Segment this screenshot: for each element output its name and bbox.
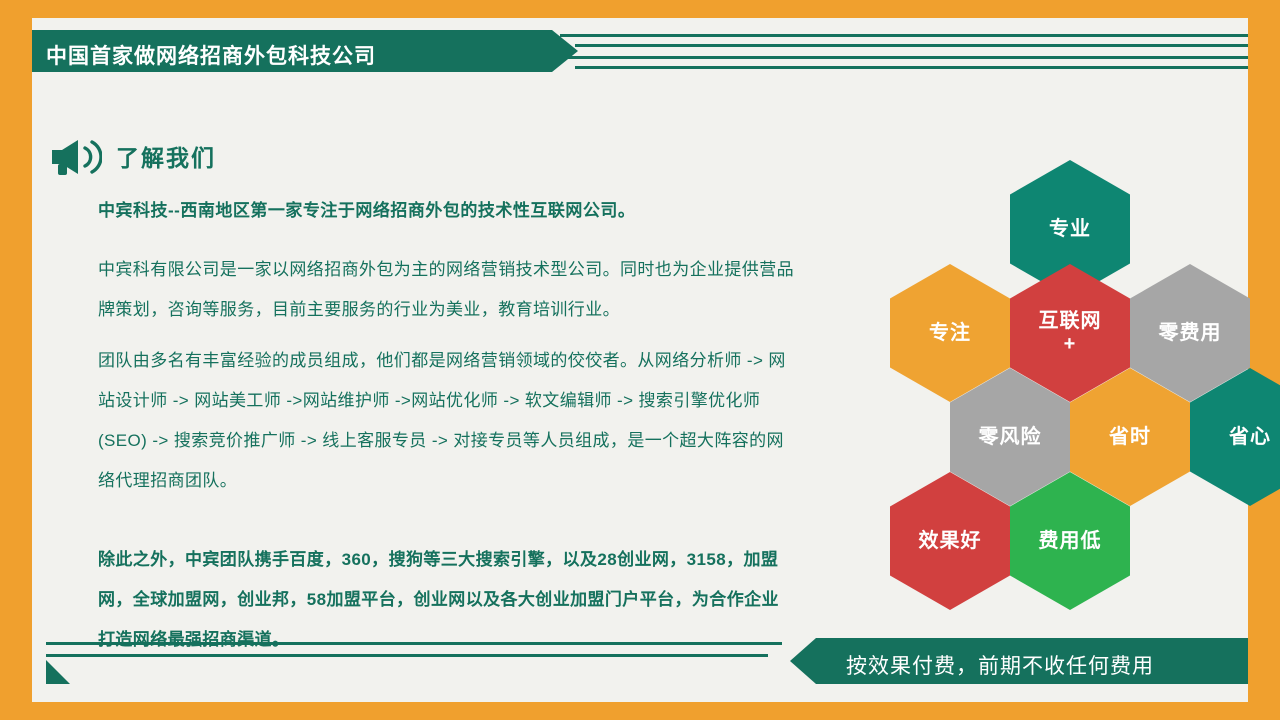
header-title: 中国首家做网络招商外包科技公司	[46, 40, 376, 70]
header-decor-line-2	[575, 44, 1248, 47]
hexagon-label: 费用低	[1039, 530, 1102, 553]
hexagon-label: 专业	[1049, 218, 1091, 241]
footer-bar-arrow	[790, 638, 816, 684]
header-decor-line-3	[560, 56, 1248, 59]
megaphone-icon	[48, 138, 102, 176]
hexagon-label: 省时	[1109, 426, 1151, 449]
slide-root: 中国首家做网络招商外包科技公司 了解我们 中宾科技--西南地区第一家专注于网络招…	[0, 0, 1280, 720]
hexagon-label: 零风险	[979, 426, 1042, 449]
header-decor-line-4	[575, 66, 1248, 69]
body-paragraph-2: 团队由多名有丰富经验的成员组成，他们都是网络营销领域的佼佼者。从网络分析师 ->…	[98, 341, 798, 501]
header-decor-line-1	[560, 34, 1248, 37]
footer-text: 按效果付费，前期不收任何费用	[846, 650, 1154, 680]
footer-corner-triangle	[46, 660, 70, 684]
hexagon-label: 专注	[929, 322, 971, 345]
hexagon-label: 互联网 +	[1039, 310, 1102, 356]
body-paragraph-1: 中宾科有限公司是一家以网络招商外包为主的网络营销技术型公司。同时也为企业提供营品…	[98, 250, 798, 330]
hexagon-label: 省心	[1229, 426, 1271, 449]
footer-decor-line-1	[46, 642, 782, 645]
section-title: 了解我们	[116, 139, 216, 173]
lead-paragraph: 中宾科技--西南地区第一家专注于网络招商外包的技术性互联网公司。	[98, 196, 798, 221]
hexagon-label: 零费用	[1159, 322, 1222, 345]
hexagon-cluster: 专业专注互联网 +零费用零风险省时省心效果好费用低	[830, 160, 1230, 550]
hexagon-label: 效果好	[919, 530, 982, 553]
footer-decor-line-2	[46, 654, 768, 657]
